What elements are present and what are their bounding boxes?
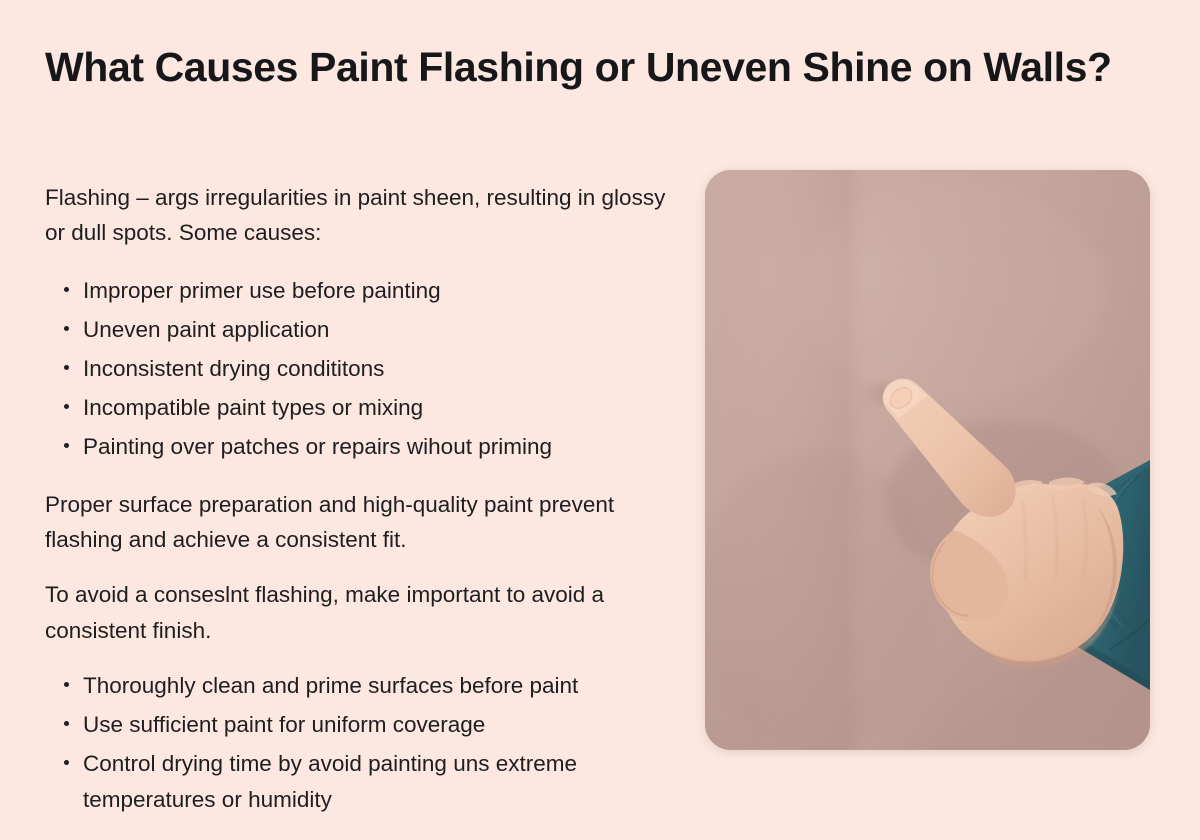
list-item: Use sufficient paint for uniform coverag…	[45, 707, 675, 743]
list-item: Inconsistent drying condititons	[45, 351, 675, 387]
bullet-dot-icon	[64, 760, 69, 765]
bullet-dot-icon	[64, 287, 69, 292]
bullet-dot-icon	[64, 682, 69, 687]
list-item: Uneven paint application	[45, 312, 675, 348]
list-item: Painting over patches or repairs wihout …	[45, 429, 675, 465]
hand-pointing-at-wall-photo	[705, 170, 1150, 750]
list-item: Thoroughly clean and prime surfaces befo…	[45, 668, 675, 704]
list-item-label: Use sufficient paint for uniform coverag…	[83, 712, 485, 737]
list-item-label: Inconsistent drying condititons	[83, 356, 384, 381]
bullet-dot-icon	[64, 326, 69, 331]
list-item-label: Painting over patches or repairs wihout …	[83, 434, 552, 459]
intro-paragraph: Flashing – args irregularities in paint …	[45, 180, 675, 251]
list-item: Incompatible paint types or mixing	[45, 390, 675, 426]
middle-paragraph: Proper surface preparation and high-qual…	[45, 487, 675, 558]
bullet-dot-icon	[64, 443, 69, 448]
list-item-label: Control drying time by avoid painting un…	[83, 751, 577, 812]
list-item-label: Incompatible paint types or mixing	[83, 395, 423, 420]
bullet-dot-icon	[64, 721, 69, 726]
infographic-page: What Causes Paint Flashing or Uneven Shi…	[0, 0, 1200, 800]
list-item: Control drying time by avoid painting un…	[45, 746, 675, 818]
photo-illustration	[705, 170, 1150, 750]
bullet-dot-icon	[64, 365, 69, 370]
page-title: What Causes Paint Flashing or Uneven Shi…	[45, 40, 1125, 95]
list-item-label: Improper primer use before painting	[83, 278, 441, 303]
text-column: Flashing – args irregularities in paint …	[45, 180, 675, 840]
tips-list: Thoroughly clean and prime surfaces befo…	[45, 668, 675, 818]
list-item-label: Thoroughly clean and prime surfaces befo…	[83, 673, 578, 698]
causes-list: Improper primer use before painting Unev…	[45, 273, 675, 465]
bullet-dot-icon	[64, 404, 69, 409]
advice-paragraph: To avoid a conseslnt flashing, make impo…	[45, 577, 675, 648]
list-item-label: Uneven paint application	[83, 317, 329, 342]
list-item: Improper primer use before painting	[45, 273, 675, 309]
